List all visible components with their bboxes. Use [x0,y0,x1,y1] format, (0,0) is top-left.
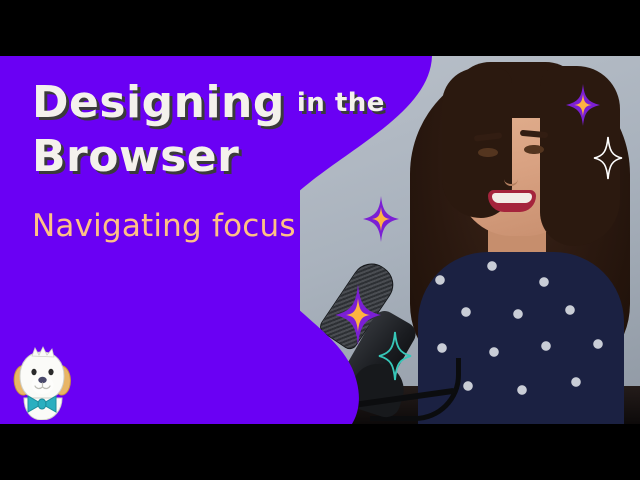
episode-subtitle: Navigating focus [32,208,402,244]
title-word-designing: Designing [32,80,285,126]
sparkle-purple-gold-hair-icon [566,84,600,126]
mouth-smiling [488,190,536,212]
title-block: Designingin the Browser Navigating focus [32,80,402,244]
thumbnail-content-band: Designingin the Browser Navigating focus [0,56,640,424]
sparkle-teal-outline-icon [378,331,412,381]
title-line-2: Browser [32,134,402,180]
dog-mascot-logo [6,344,82,420]
sparkle-purple-gold-mic-lower-icon [335,284,381,346]
title-line-1: Designingin the [32,80,402,126]
video-frame: Designingin the Browser Navigating focus [0,0,640,480]
letterbox-bar-top [0,0,640,56]
letterbox-bar-bottom [0,424,640,480]
teeth [492,193,532,203]
eye-left [478,148,498,157]
sparkle-purple-gold-mic-top-icon [363,196,399,242]
eye-right [524,145,544,154]
sparkle-white-outline-icon [593,136,623,180]
title-word-browser: Browser [32,134,239,180]
title-word-in-the: in the [297,90,385,117]
nose [504,164,518,186]
